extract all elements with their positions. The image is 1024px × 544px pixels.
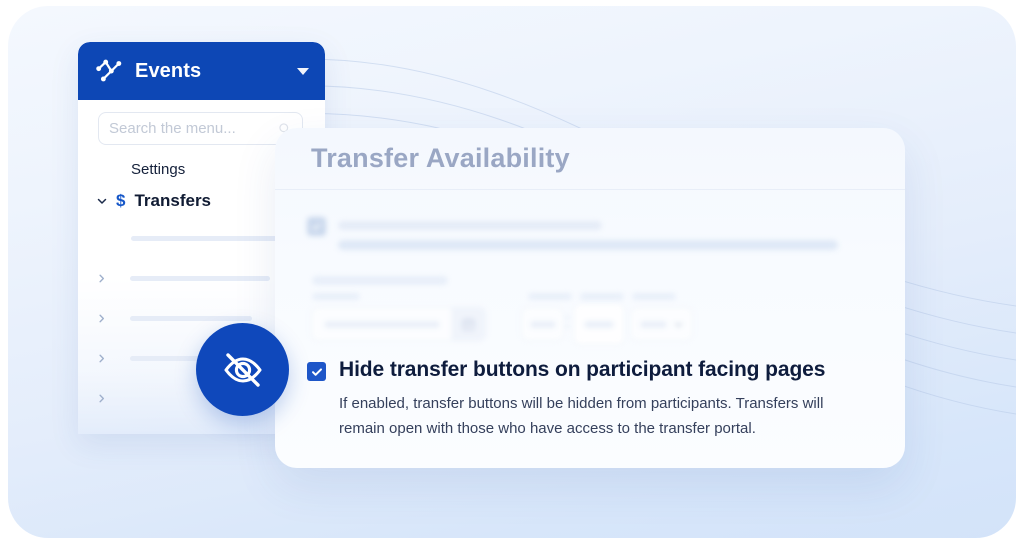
sidebar-search[interactable]: Search the menu... <box>98 112 303 145</box>
search-input-placeholder[interactable]: Search the menu... <box>109 120 236 137</box>
page-title: Transfer Availability <box>311 143 570 174</box>
skeleton-checkbox[interactable] <box>307 217 326 236</box>
dollar-sign-icon: $ <box>116 191 125 211</box>
chevron-right-icon[interactable] <box>96 313 116 324</box>
card-header: Transfer Availability <box>275 128 905 190</box>
skeleton-text-line <box>338 240 838 250</box>
sidebar-header[interactable]: Events <box>78 42 325 100</box>
skeleton-label <box>580 293 624 300</box>
placeholder-bar <box>130 316 252 321</box>
chevron-down-icon[interactable] <box>673 319 684 330</box>
placeholder-bar <box>131 236 279 241</box>
timezone-dropdown[interactable] <box>630 307 693 341</box>
calendar-icon[interactable] <box>451 308 485 340</box>
eye-slash-icon <box>196 323 289 416</box>
setting-title: Hide transfer buttons on participant fac… <box>339 358 825 382</box>
sidebar-item-label: Settings <box>131 161 185 178</box>
screenshot-root: Events Search the menu... Settings $ <box>0 0 1024 544</box>
skeleton-label <box>632 293 676 300</box>
caret-down-icon[interactable] <box>297 68 309 75</box>
analytics-chart-icon <box>94 56 124 86</box>
hide-transfer-buttons-setting: Hide transfer buttons on participant fac… <box>307 358 877 442</box>
skeleton-text-line <box>338 221 602 230</box>
skeleton-label <box>528 293 572 300</box>
skeleton-label <box>312 276 448 285</box>
time-separator <box>566 316 569 334</box>
chevron-right-icon[interactable] <box>96 353 116 364</box>
setting-description: If enabled, transfer buttons will be hid… <box>339 391 869 443</box>
chevron-down-icon[interactable] <box>96 195 116 207</box>
hide-transfer-buttons-checkbox[interactable] <box>307 362 326 381</box>
date-input[interactable] <box>311 307 486 341</box>
time-minute-input[interactable] <box>573 303 625 345</box>
placeholder-bar <box>130 276 270 281</box>
sidebar-item-label: Transfers <box>134 191 211 211</box>
chevron-right-icon[interactable] <box>96 393 116 404</box>
skeleton-label <box>312 293 360 300</box>
time-hour-input[interactable] <box>521 307 564 341</box>
chevron-right-icon[interactable] <box>96 273 116 284</box>
sidebar-brand-label: Events <box>135 60 201 83</box>
